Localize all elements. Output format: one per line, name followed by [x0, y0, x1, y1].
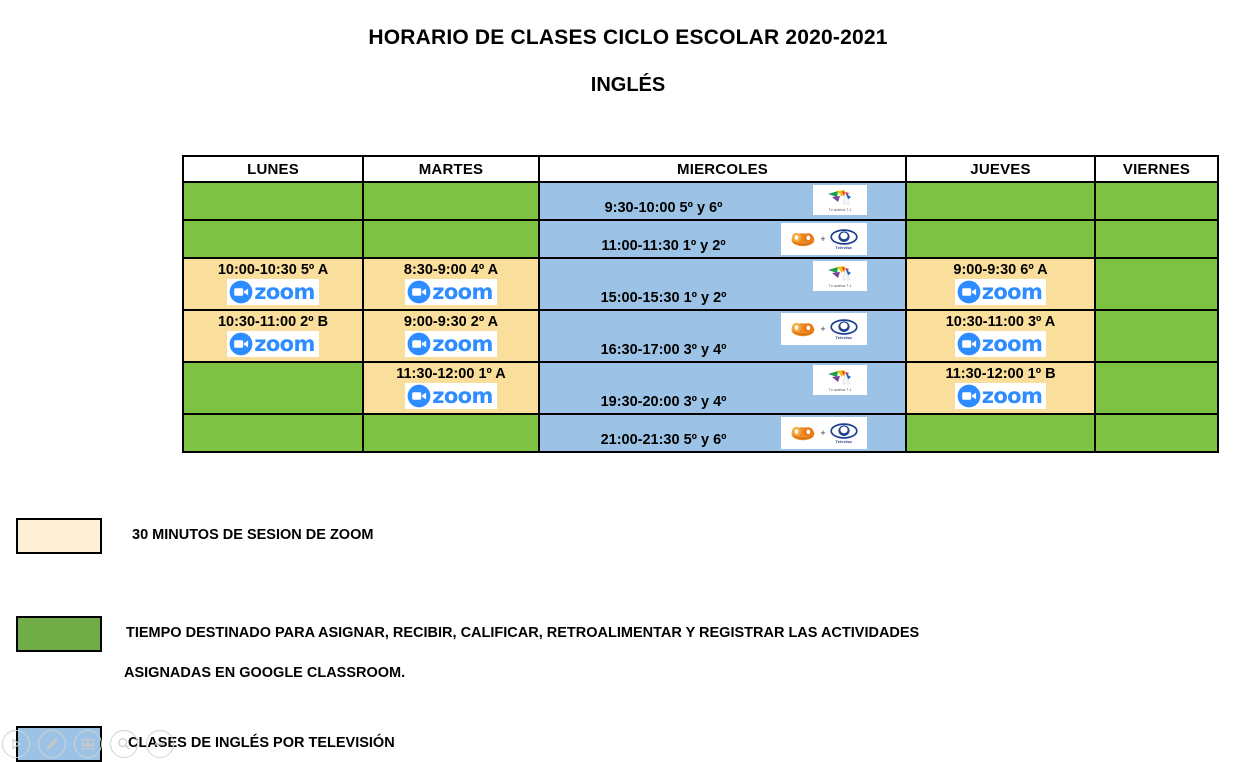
cell-zoom-session-lunes: 10:30-11:00 2º Bzoom — [183, 310, 363, 362]
zoom-session-time: 10:30-11:00 2º B — [218, 315, 328, 330]
cell-classroom-time-viernes — [1095, 310, 1218, 362]
cell-zoom-session-martes: 8:30-9:00 4º Azoom — [363, 258, 539, 310]
canal-5-logo — [790, 230, 816, 248]
tv-azteca-logo: Tv azteca 7.1 — [813, 185, 867, 215]
zoom-logo: zoom — [227, 279, 319, 305]
tv-channel-logo-holder: +Televisa — [781, 223, 867, 255]
tv-channel-logo-holder: +Televisa — [781, 417, 867, 449]
televisa-logo: Televisa — [830, 423, 858, 444]
schedule-table-wrapper: LUNES MARTES MIERCOLES JUEVES VIERNES 9:… — [182, 155, 1217, 453]
azteca-bird-icon — [825, 188, 855, 208]
column-header-jueves: JUEVES — [906, 156, 1095, 182]
televisa-eye-icon — [830, 229, 858, 245]
zoom-wordmark: zoom — [432, 332, 493, 356]
tv-channel-logo-holder: Tv azteca 7.1 — [813, 261, 867, 291]
zoom-session-time: 9:00-9:30 2º A — [404, 315, 498, 330]
legend-label-classroom-line2: ASIGNADAS EN GOOGLE CLASSROOM. — [124, 666, 919, 681]
cell-classroom-time-martes — [363, 414, 539, 452]
televisa-caption: Televisa — [835, 245, 851, 250]
legend-spacer-1 — [16, 554, 1166, 616]
zoom-logo: zoom — [955, 279, 1047, 305]
play-icon — [9, 737, 23, 751]
zoom-session-time: 10:00-10:30 5º A — [218, 263, 328, 278]
zoom-wordmark: zoom — [432, 280, 493, 304]
table-row: 9:30-10:00 5º y 6ºTv azteca 7.1 — [183, 182, 1218, 220]
canal-5-logo — [790, 320, 816, 338]
column-header-martes: MARTES — [363, 156, 539, 182]
cell-classroom-time-jueves — [906, 220, 1095, 258]
legend-label-zoom: 30 MINUTOS DE SESION DE ZOOM — [132, 518, 373, 543]
legend-swatch-cream — [16, 518, 102, 554]
cell-tv-class-miercoles: 21:00-21:30 5º y 6º+Televisa — [539, 414, 906, 452]
legend-label-classroom: TIEMPO DESTINADO PARA ASIGNAR, RECIBIR, … — [126, 616, 919, 680]
schedule-table-body: 9:30-10:00 5º y 6ºTv azteca 7.111:00-11:… — [183, 182, 1218, 452]
legend-label-classroom-line1: TIEMPO DESTINADO PARA ASIGNAR, RECIBIR, … — [126, 625, 919, 641]
cell-tv-class-miercoles: 19:30-20:00 3º y 4ºTv azteca 7.1 — [539, 362, 906, 414]
zoom-logo: zoom — [405, 279, 497, 305]
magnifier-icon — [116, 736, 132, 752]
tv-azteca-caption: Tv azteca 7.1 — [829, 208, 852, 212]
legend-swatch-green — [16, 616, 102, 652]
column-header-viernes: VIERNES — [1095, 156, 1218, 182]
table-row: 21:00-21:30 5º y 6º+Televisa — [183, 414, 1218, 452]
azteca-bird-icon — [825, 368, 855, 388]
zoom-session-content: 9:00-9:30 2º Azoom — [364, 311, 538, 361]
cell-classroom-time-martes — [363, 220, 539, 258]
presentation-toolbar — [0, 727, 174, 761]
tv-class-content: 19:30-20:00 3º y 4ºTv azteca 7.1 — [540, 363, 905, 413]
televisa-eye-icon — [830, 319, 858, 335]
table-row: 11:30-12:00 1º Azoom19:30-20:00 3º y 4ºT… — [183, 362, 1218, 414]
zoom-session-time: 10:30-11:00 3º A — [946, 315, 1056, 330]
cell-tv-class-miercoles: 11:00-11:30 1º y 2º+Televisa — [539, 220, 906, 258]
cell-tv-class-miercoles: 9:30-10:00 5º y 6ºTv azteca 7.1 — [539, 182, 906, 220]
zoom-wordmark: zoom — [982, 332, 1043, 356]
zoom-session-content: 11:30-12:00 1º Bzoom — [907, 363, 1094, 413]
zoom-wordmark: zoom — [254, 280, 315, 304]
zoom-logo: zoom — [227, 331, 319, 357]
video-camera-icon — [957, 384, 981, 408]
cell-zoom-session-lunes: 10:00-10:30 5º Azoom — [183, 258, 363, 310]
tv-azteca-logo: Tv azteca 7.1 — [813, 365, 867, 395]
table-row: 10:00-10:30 5º Azoom8:30-9:00 4º Azoom15… — [183, 258, 1218, 310]
column-header-miercoles: MIERCOLES — [539, 156, 906, 182]
cell-classroom-time-viernes — [1095, 220, 1218, 258]
canal5-televisa-logo-pair: +Televisa — [781, 417, 867, 449]
slides-grid-icon — [80, 736, 96, 752]
zoom-logo: zoom — [405, 383, 497, 409]
tv-class-content: 11:00-11:30 1º y 2º+Televisa — [540, 221, 905, 257]
more-options-icon — [152, 736, 168, 752]
tv-azteca-caption: Tv azteca 7.1 — [829, 388, 852, 392]
zoom-session-content: 10:30-11:00 3º Azoom — [907, 311, 1094, 361]
zoom-session-time: 11:30-12:00 1º A — [396, 367, 506, 382]
pen-icon — [44, 736, 60, 752]
table-header-row: LUNES MARTES MIERCOLES JUEVES VIERNES — [183, 156, 1218, 182]
video-camera-icon — [407, 280, 431, 304]
logo-separator: + — [820, 325, 825, 334]
tv-class-time: 15:00-15:30 1º y 2º — [540, 290, 905, 306]
pen-tools-button[interactable] — [38, 730, 66, 758]
tv-class-time: 19:30-20:00 3º y 4º — [540, 394, 905, 410]
cell-classroom-time-lunes — [183, 414, 363, 452]
schedule-table: LUNES MARTES MIERCOLES JUEVES VIERNES 9:… — [182, 155, 1219, 453]
all-slides-button[interactable] — [74, 730, 102, 758]
page-title: HORARIO DE CLASES CICLO ESCOLAR 2020-202… — [0, 26, 1256, 49]
video-camera-icon — [229, 280, 253, 304]
logo-separator: + — [820, 429, 825, 438]
zoom-wordmark: zoom — [982, 280, 1043, 304]
cell-classroom-time-viernes — [1095, 258, 1218, 310]
cell-classroom-time-lunes — [183, 220, 363, 258]
legend-spacer-2 — [16, 680, 1166, 726]
cell-zoom-session-martes: 9:00-9:30 2º Azoom — [363, 310, 539, 362]
tv-class-content: 15:00-15:30 1º y 2ºTv azteca 7.1 — [540, 259, 905, 309]
zoom-session-time: 11:30-12:00 1º B — [945, 367, 1055, 382]
tv-class-content: 9:30-10:00 5º y 6ºTv azteca 7.1 — [540, 183, 905, 219]
zoom-session-content: 9:00-9:30 6º Azoom — [907, 259, 1094, 309]
cell-classroom-time-viernes — [1095, 362, 1218, 414]
canal5-televisa-logo-pair: +Televisa — [781, 223, 867, 255]
televisa-caption: Televisa — [835, 335, 851, 340]
video-camera-icon — [957, 280, 981, 304]
cell-zoom-session-martes: 11:30-12:00 1º Azoom — [363, 362, 539, 414]
tv-channel-logo-holder: +Televisa — [781, 313, 867, 345]
title-block: HORARIO DE CLASES CICLO ESCOLAR 2020-202… — [0, 0, 1256, 96]
cell-tv-class-miercoles: 15:00-15:30 1º y 2ºTv azteca 7.1 — [539, 258, 906, 310]
cell-classroom-time-viernes — [1095, 182, 1218, 220]
zoom-session-time: 9:00-9:30 6º A — [953, 263, 1047, 278]
cell-classroom-time-martes — [363, 182, 539, 220]
cell-classroom-time-lunes — [183, 362, 363, 414]
tv-azteca-caption: Tv azteca 7.1 — [829, 284, 852, 288]
zoom-session-content: 10:00-10:30 5º Azoom — [184, 259, 362, 309]
tv-azteca-logo: Tv azteca 7.1 — [813, 261, 867, 291]
tv-channel-logo-holder: Tv azteca 7.1 — [813, 185, 867, 215]
cell-classroom-time-jueves — [906, 182, 1095, 220]
canal-5-logo — [790, 424, 816, 442]
logo-separator: + — [820, 235, 825, 244]
azteca-bird-icon — [825, 264, 855, 284]
play-button[interactable] — [2, 730, 30, 758]
cell-classroom-time-lunes — [183, 182, 363, 220]
tv-class-content: 16:30-17:00 3º y 4º+Televisa — [540, 311, 905, 361]
zoom-session-content: 11:30-12:00 1º Azoom — [364, 363, 538, 413]
zoom-wordmark: zoom — [254, 332, 315, 356]
canal5-televisa-logo-pair: +Televisa — [781, 313, 867, 345]
zoom-wordmark: zoom — [982, 384, 1043, 408]
cell-classroom-time-viernes — [1095, 414, 1218, 452]
video-camera-icon — [407, 384, 431, 408]
tv-class-content: 21:00-21:30 5º y 6º+Televisa — [540, 415, 905, 451]
table-row: 11:00-11:30 1º y 2º+Televisa — [183, 220, 1218, 258]
legend-item-television: CLASES DE INGLÉS POR TELEVISIÓN — [16, 726, 1166, 762]
zoom-session-content: 8:30-9:00 4º Azoom — [364, 259, 538, 309]
televisa-eye-icon — [830, 423, 858, 439]
televisa-logo: Televisa — [830, 229, 858, 250]
cell-zoom-session-jueves: 11:30-12:00 1º Bzoom — [906, 362, 1095, 414]
column-header-lunes: LUNES — [183, 156, 363, 182]
televisa-caption: Televisa — [835, 439, 851, 444]
zoom-wordmark: zoom — [432, 384, 493, 408]
cell-zoom-session-jueves: 9:00-9:30 6º Azoom — [906, 258, 1095, 310]
legend-item-zoom: 30 MINUTOS DE SESION DE ZOOM — [16, 518, 1166, 554]
zoom-logo: zoom — [955, 331, 1047, 357]
zoom-session-time: 8:30-9:00 4º A — [404, 263, 498, 278]
cell-classroom-time-jueves — [906, 414, 1095, 452]
page-subtitle: INGLÉS — [0, 74, 1256, 96]
video-camera-icon — [957, 332, 981, 356]
legend: 30 MINUTOS DE SESION DE ZOOM TIEMPO DEST… — [16, 518, 1166, 762]
televisa-logo: Televisa — [830, 319, 858, 340]
tv-channel-logo-holder: Tv azteca 7.1 — [813, 365, 867, 395]
table-row: 10:30-11:00 2º Bzoom9:00-9:30 2º Azoom16… — [183, 310, 1218, 362]
zoom-logo: zoom — [405, 331, 497, 357]
cell-zoom-session-jueves: 10:30-11:00 3º Azoom — [906, 310, 1095, 362]
zoom-session-content: 10:30-11:00 2º Bzoom — [184, 311, 362, 361]
zoom-button[interactable] — [110, 730, 138, 758]
video-camera-icon — [229, 332, 253, 356]
cell-tv-class-miercoles: 16:30-17:00 3º y 4º+Televisa — [539, 310, 906, 362]
zoom-logo: zoom — [955, 383, 1047, 409]
legend-item-classroom: TIEMPO DESTINADO PARA ASIGNAR, RECIBIR, … — [16, 616, 1166, 680]
video-camera-icon — [407, 332, 431, 356]
more-options-button[interactable] — [146, 730, 174, 758]
